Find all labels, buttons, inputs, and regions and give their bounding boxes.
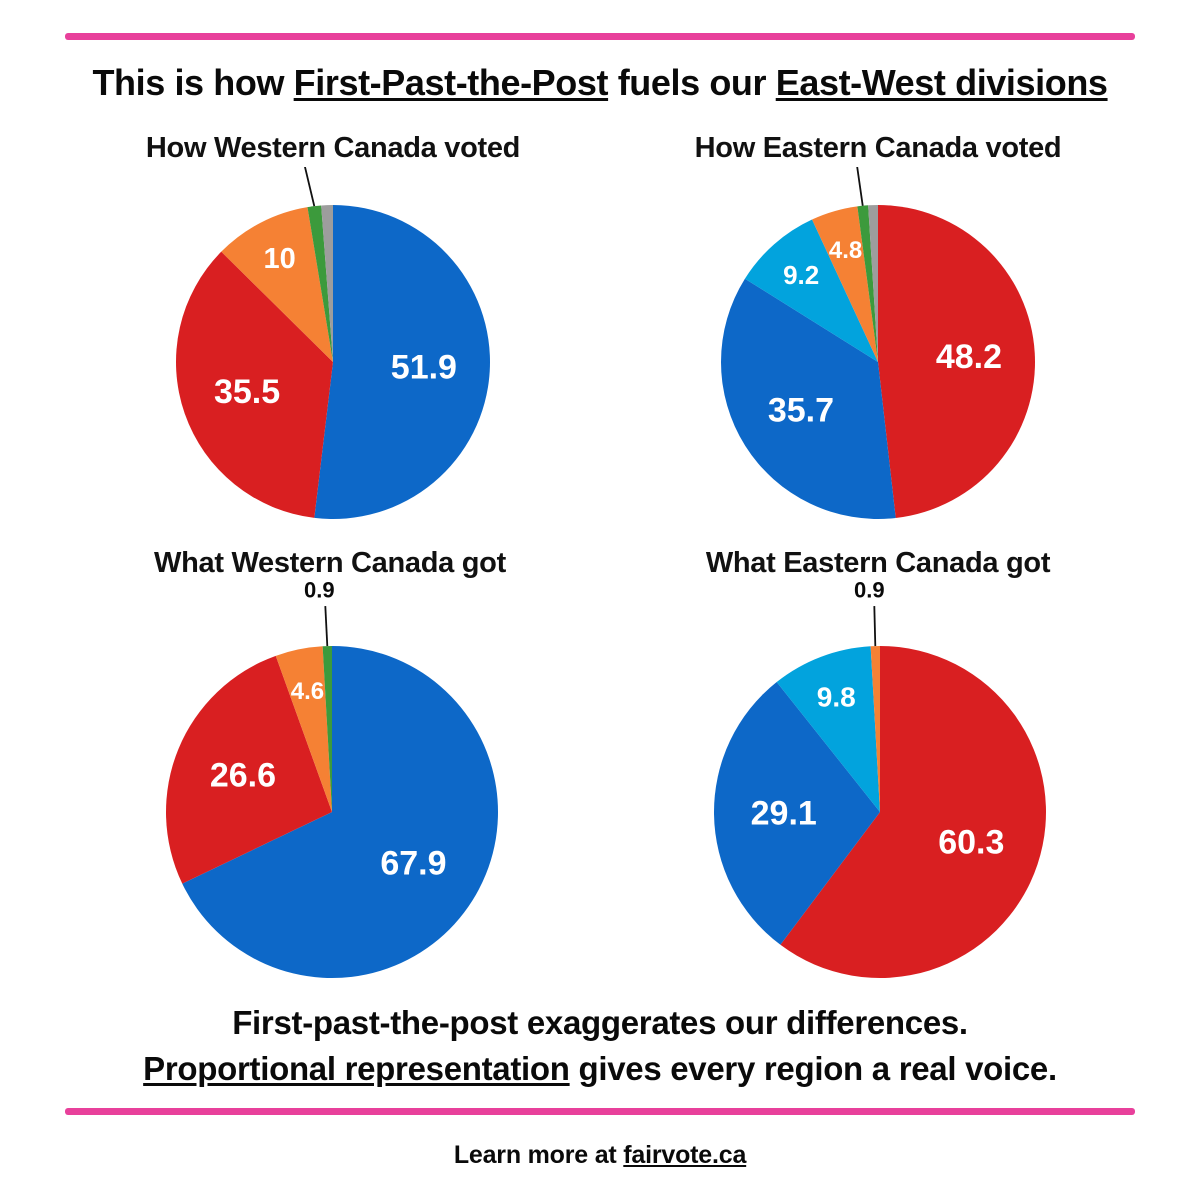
slice-value-label: 9.8 xyxy=(817,682,856,713)
pie-chart-east-got: 60.329.19.80.9 xyxy=(608,582,1148,992)
slice-value-label: 4.6 xyxy=(291,678,324,705)
chart-cell-east-voted: How Eastern Canada voted 48.235.79.24.81… xyxy=(608,132,1148,533)
chart-title: How Western Canada voted xyxy=(63,132,603,165)
chart-cell-west-got: What Western Canada got 67.926.64.60.9 xyxy=(60,547,600,992)
label-leader-line xyxy=(325,606,327,646)
fairvote-link[interactable]: fairvote.ca xyxy=(623,1141,746,1169)
label-leader-line xyxy=(857,167,863,206)
footer-line-2-rest: gives every region a real voice. xyxy=(570,1050,1057,1087)
chart-title: What Eastern Canada got xyxy=(608,547,1148,580)
chart-cell-west-voted: How Western Canada voted 51.935.5101.4 xyxy=(63,132,603,533)
footer-line-1: First-past-the-post exaggerates our diff… xyxy=(0,1000,1200,1046)
chart-title: How Eastern Canada voted xyxy=(608,132,1148,165)
pie-svg: 60.329.19.80.9 xyxy=(608,582,1148,992)
pie-chart-west-got: 67.926.64.60.9 xyxy=(60,582,600,992)
slice-value-label: 29.1 xyxy=(751,794,817,832)
slice-value-label: 26.6 xyxy=(210,756,276,794)
pie-chart-west-voted: 51.935.5101.4 xyxy=(63,167,603,533)
slice-value-label: 48.2 xyxy=(936,338,1002,376)
label-leader-line xyxy=(304,167,314,206)
footer-emphasis-pr: Proportional representation xyxy=(143,1050,569,1087)
slice-value-label: 51.9 xyxy=(391,348,457,386)
headline-part-2: fuels our xyxy=(608,62,776,103)
page-title: This is how First-Past-the-Post fuels ou… xyxy=(0,62,1200,104)
headline-emphasis-divisions: East-West divisions xyxy=(776,62,1108,103)
slice-value-label: 4.8 xyxy=(829,237,862,264)
slice-value-label: 67.9 xyxy=(380,844,446,882)
pie-svg: 48.235.79.24.81.1 xyxy=(608,167,1148,533)
slice-value-label: 35.5 xyxy=(214,373,280,411)
slice-value-label: 35.7 xyxy=(768,392,834,430)
slice-value-label: 60.3 xyxy=(938,823,1004,861)
pie-chart-east-voted: 48.235.79.24.81.1 xyxy=(608,167,1148,533)
pie-svg: 51.935.5101.4 xyxy=(63,167,603,533)
slice-value-label: 9.2 xyxy=(783,260,819,290)
chart-cell-east-got: What Eastern Canada got 60.329.19.80.9 xyxy=(608,547,1148,992)
top-accent-rule xyxy=(65,33,1135,40)
slice-value-label: 10 xyxy=(263,243,295,275)
headline-part-1: This is how xyxy=(92,62,293,103)
footer-line-2: Proportional representation gives every … xyxy=(0,1046,1200,1092)
footer-message: First-past-the-post exaggerates our diff… xyxy=(0,1000,1200,1092)
slice-value-label-outside: 0.9 xyxy=(854,582,885,603)
slice-value-label-outside: 0.9 xyxy=(304,582,335,603)
pie-svg: 67.926.64.60.9 xyxy=(60,582,600,992)
learn-more-prefix: Learn more at xyxy=(454,1141,623,1169)
bottom-accent-rule xyxy=(65,1108,1135,1115)
learn-more: Learn more at fairvote.ca xyxy=(0,1141,1200,1170)
headline-emphasis-fptp: First-Past-the-Post xyxy=(294,62,608,103)
chart-title: What Western Canada got xyxy=(60,547,600,580)
label-leader-line xyxy=(874,606,875,646)
